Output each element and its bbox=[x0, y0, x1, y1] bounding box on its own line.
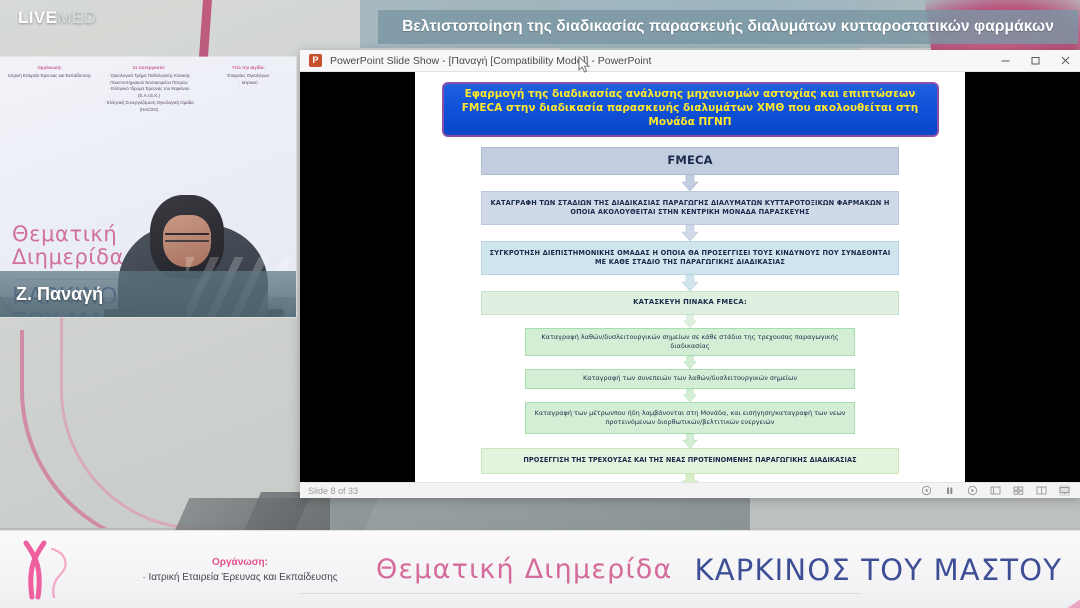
pause-icon[interactable] bbox=[944, 485, 955, 496]
banner-organizer-line: · Ιατρική Εταιρεία Έρευνας και Εκπαίδευσ… bbox=[142, 572, 337, 583]
powerpoint-window[interactable]: PowerPoint Slide Show - [Παναγή [Compati… bbox=[300, 50, 1080, 498]
restore-icon[interactable] bbox=[1020, 50, 1050, 72]
slide-title-banner: Εφαρμογή της διαδικασίας ανάλυσης μηχανι… bbox=[442, 82, 939, 137]
slideshow-view-icon[interactable] bbox=[1059, 485, 1070, 496]
webcam-overlay[interactable]: Οργάνωση: Ιατρική Εταιρεία Έρευνας και Ε… bbox=[0, 57, 296, 317]
close-icon[interactable] bbox=[1050, 50, 1080, 72]
previous-slide-icon[interactable] bbox=[921, 485, 932, 496]
webcam-org-heading-1: Οργάνωση: bbox=[4, 65, 95, 72]
webcam-org-line-2a: · Ογκολογικό Τμήμα Παθολογικής Κλινικής bbox=[108, 73, 190, 78]
powerpoint-icon bbox=[309, 54, 322, 67]
banner-pink-swirl bbox=[910, 530, 1080, 608]
screen-root: LIVEMED Βελτιστοποίηση της διαδικασίας π… bbox=[0, 0, 1080, 608]
flow-label-sub-1: Καταγραφή λαθών/δυσλειτουργικών σημείων … bbox=[526, 333, 854, 350]
flow-box-sub-3: Καταγραφή των μέτρωνπου ήδη λαμβάνονται … bbox=[525, 402, 855, 434]
flow-arrow-8 bbox=[680, 474, 700, 482]
webcam-org-line-1: Ιατρική Εταιρεία Έρευνας και Εκπαίδευσης bbox=[8, 73, 91, 78]
powerpoint-statusbar: Slide 8 of 33 bbox=[300, 482, 1080, 498]
webcam-org-line-3a: Εταιρείας Ογκολόγων bbox=[227, 73, 269, 78]
livemed-logo: LIVEMED bbox=[18, 8, 96, 28]
mouse-cursor bbox=[578, 56, 591, 74]
flow-arrow-5 bbox=[680, 356, 700, 369]
session-title: Βελτιστοποίηση της διαδικασίας παρασκευή… bbox=[402, 18, 1054, 36]
webcam-org-line-2d: · Ελληνική Συνεργαζόμενη Ογκολογική Ομάδ… bbox=[104, 100, 194, 112]
webcam-org-column-3: Υπό την αιγίδα: Εταιρείας Ογκολόγων · Ια… bbox=[203, 65, 294, 114]
livemed-logo-secondary: MED bbox=[57, 8, 96, 27]
flow-box-step-2: ΣΥΓΚΡΟΤΗΣΗ ΔΙΕΠΙΣΤΗΜΟΝΙΚΗΣ ΟΜΑΔΑΣ Η ΟΠΟΙ… bbox=[481, 241, 899, 275]
banner-artwork bbox=[1062, 531, 1080, 608]
webcam-org-line-2c: · Ελληνικό Ίδρυμα Έρευνας του Καρκίνου (… bbox=[109, 86, 190, 98]
minimize-icon[interactable] bbox=[990, 50, 1020, 72]
flow-box-step-3: ΚΑΤΑΣΚΕΥΗ ΠΙΝΑΚΑ FMECA: bbox=[481, 291, 899, 315]
reading-view-icon[interactable] bbox=[1036, 485, 1047, 496]
flow-box-fmeca-head: FMECA bbox=[481, 147, 899, 175]
webcam-org-column-1: Οργάνωση: Ιατρική Εταιρεία Έρευνας και Ε… bbox=[4, 65, 95, 114]
flow-arrow-2 bbox=[680, 225, 700, 241]
powerpoint-titlebar[interactable]: PowerPoint Slide Show - [Παναγή [Compati… bbox=[300, 50, 1080, 72]
window-controls bbox=[990, 50, 1080, 72]
flow-box-step-1: ΚΑΤΑΓΡΑΦΗ ΤΩΝ ΣΤΑΔΙΩΝ ΤΗΣ ΔΙΑΔΙΚΑΣΙΑΣ ΠΑ… bbox=[481, 191, 899, 225]
event-bottom-banner: Οργάνωση: · Ιατρική Εταιρεία Έρευνας και… bbox=[0, 530, 1080, 608]
banner-organizer-heading: Οργάνωση: bbox=[120, 555, 360, 570]
slide-sorter-icon[interactable] bbox=[1013, 485, 1024, 496]
flow-arrow-1 bbox=[680, 175, 700, 191]
flow-arrow-7 bbox=[680, 434, 700, 448]
webcam-org-heading-2: Σε συνεργασία: bbox=[103, 65, 194, 72]
flow-box-sub-2: Καταγραφή των συνεπειών των λαθών/δυσλει… bbox=[525, 369, 855, 389]
webcam-org-heading-3: Υπό την αιγίδα: bbox=[203, 65, 294, 72]
webcam-event-title-line2: Διημερίδα bbox=[12, 246, 124, 269]
webcam-org-column-2: Σε συνεργασία: · Ογκολογικό Τμήμα Παθολο… bbox=[103, 65, 194, 114]
banner-event-title-primary: Θεματική Διημερίδα bbox=[376, 554, 673, 585]
flow-label-sub-3: Καταγραφή των μέτρωνπου ήδη λαμβάνονται … bbox=[526, 409, 854, 426]
speaker-name: Ζ. Παναγή bbox=[16, 284, 103, 305]
powerpoint-title-text: PowerPoint Slide Show - [Παναγή [Compati… bbox=[330, 55, 990, 67]
flow-label-fmeca-head: FMECA bbox=[661, 153, 718, 168]
flow-label-step-2: ΣΥΓΚΡΟΤΗΣΗ ΔΙΕΠΙΣΤΗΜΟΝΙΚΗΣ ΟΜΑΔΑΣ Η ΟΠΟΙ… bbox=[482, 249, 898, 266]
speaker-name-bar: Ζ. Παναγή bbox=[0, 271, 296, 317]
flow-arrow-6 bbox=[680, 389, 700, 402]
flow-label-sub-2: Καταγραφή των συνεπειών των λαθών/δυσλει… bbox=[577, 374, 803, 383]
webcam-org-line-3b: · Ιατρικού bbox=[239, 80, 258, 85]
next-slide-icon[interactable] bbox=[967, 485, 978, 496]
webcam-org-line-2b: Πανεπιστημιακού Νοσοκομείου Πατρών bbox=[110, 80, 187, 85]
statusbar-icons bbox=[921, 485, 1070, 496]
webcam-event-title-primary: Θεματική Διημερίδα bbox=[12, 223, 124, 268]
slide-indicator: Slide 8 of 33 bbox=[308, 486, 358, 496]
flow-arrow-4 bbox=[680, 315, 700, 328]
flow-label-step-1: ΚΑΤΑΓΡΑΦΗ ΤΩΝ ΣΤΑΔΙΩΝ ΤΗΣ ΔΙΑΔΙΚΑΣΙΑΣ ΠΑ… bbox=[482, 199, 898, 216]
banner-underline bbox=[300, 593, 860, 594]
flow-label-step-3: ΚΑΤΑΣΚΕΥΗ ΠΙΝΑΚΑ FMECA: bbox=[627, 298, 753, 307]
slideshow-stage: Εφαρμογή της διαδικασίας ανάλυσης μηχανι… bbox=[300, 72, 1080, 482]
presenter-glasses bbox=[165, 233, 209, 242]
pink-ribbon-icon bbox=[0, 531, 120, 608]
normal-view-icon[interactable] bbox=[990, 485, 1001, 496]
flow-arrow-3 bbox=[680, 275, 700, 291]
flow-box-step-4: ΠΡΟΣΕΓΓΙΣΗ ΤΗΣ ΤΡΕΧΟΥΣΑΣ ΚΑΙ ΤΗΣ ΝΕΑΣ ΠΡ… bbox=[481, 448, 899, 474]
flow-box-sub-1: Καταγραφή λαθών/δυσλειτουργικών σημείων … bbox=[525, 328, 855, 356]
fmeca-flowchart: FMECA ΚΑΤΑΓΡΑΦΗ ΤΩΝ ΣΤΑΔΙΩΝ ΤΗΣ ΔΙΑΔΙΚΑΣ… bbox=[427, 147, 953, 482]
session-title-bar: Βελτιστοποίηση της διαδικασίας παρασκευή… bbox=[378, 10, 1078, 44]
banner-organizer-block: Οργάνωση: · Ιατρική Εταιρεία Έρευνας και… bbox=[120, 555, 360, 585]
livemed-logo-primary: LIVE bbox=[18, 8, 57, 27]
flow-label-step-4: ΠΡΟΣΕΓΓΙΣΗ ΤΗΣ ΤΡΕΧΟΥΣΑΣ ΚΑΙ ΤΗΣ ΝΕΑΣ ΠΡ… bbox=[517, 456, 862, 465]
slide-title: Εφαρμογή της διαδικασίας ανάλυσης μηχανι… bbox=[452, 88, 929, 130]
webcam-org-credits: Οργάνωση: Ιατρική Εταιρεία Έρευνας και Ε… bbox=[4, 65, 294, 114]
slide-canvas: Εφαρμογή της διαδικασίας ανάλυσης μηχανι… bbox=[415, 72, 965, 482]
webcam-event-title-line1: Θεματική bbox=[12, 223, 124, 246]
